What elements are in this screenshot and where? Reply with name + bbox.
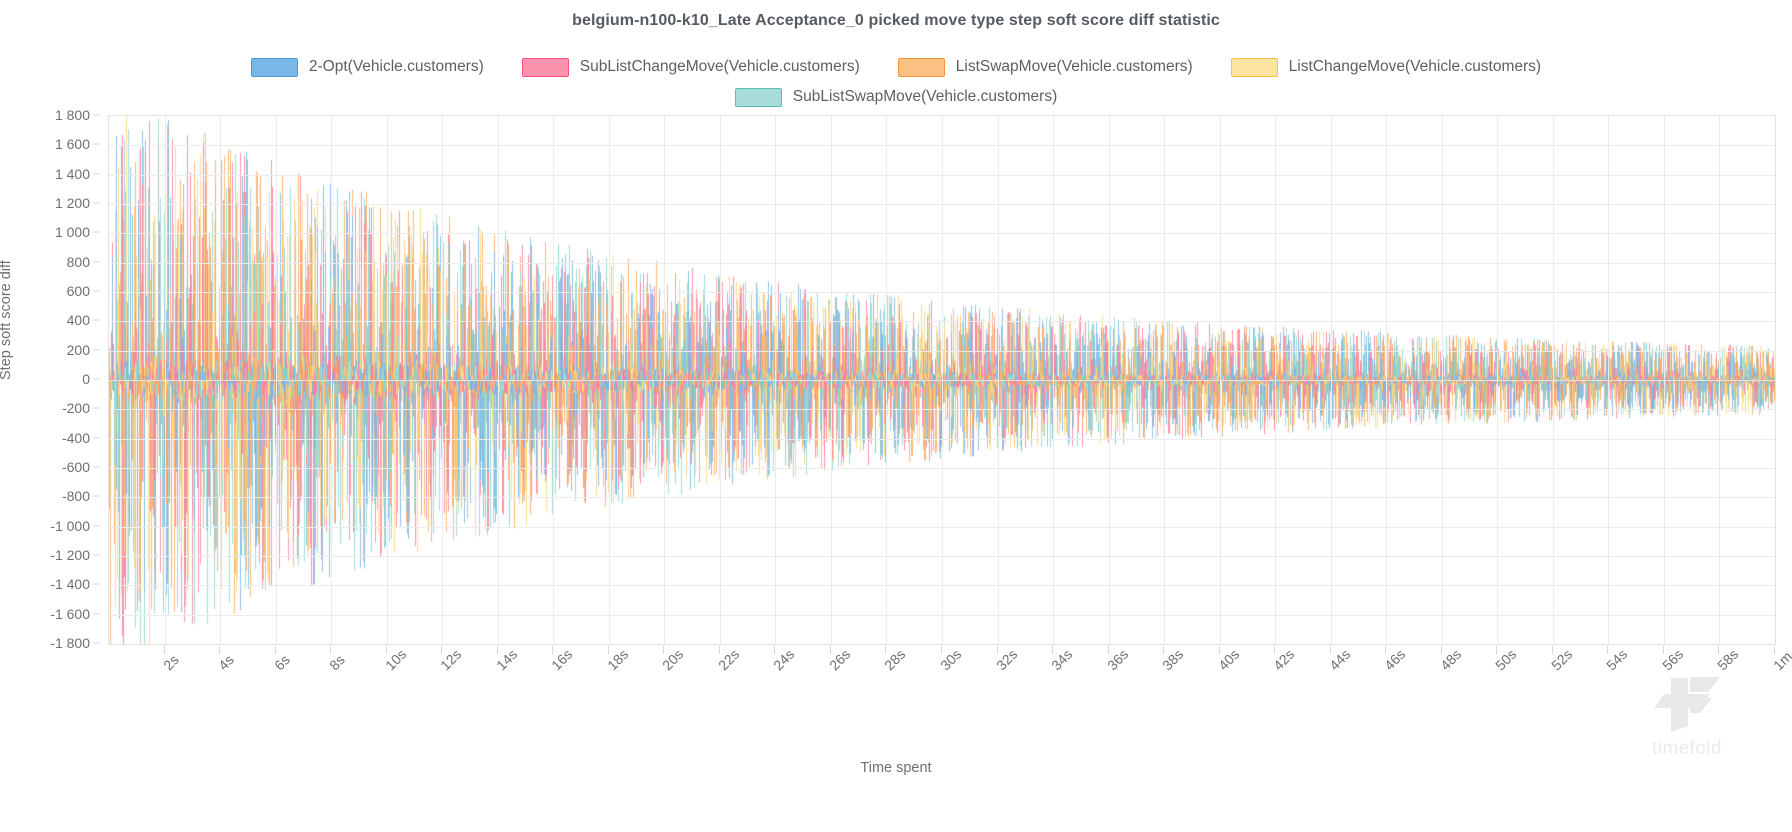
y-axis-tick-mark [93, 408, 100, 409]
y-axis-tick-label: -1 800 [50, 635, 90, 651]
x-axis-tick-mark [608, 646, 609, 654]
legend-label-sublistchangemove: SubListChangeMove(Vehicle.customers) [580, 58, 860, 76]
x-axis-tick-mark [386, 646, 387, 654]
vertical-gridline [1164, 116, 1165, 644]
y-axis-tick-label: -800 [62, 488, 90, 504]
y-axis-tick-mark [93, 115, 100, 116]
x-axis-tick-mark [941, 646, 942, 654]
legend-swatch-listchangemove [1231, 58, 1278, 77]
y-axis-tick-label: -1 600 [50, 606, 90, 622]
vertical-gridline [1719, 116, 1720, 644]
x-axis-title: Time spent [0, 760, 1792, 776]
vertical-gridline [498, 116, 499, 644]
vertical-gridline [387, 116, 388, 644]
y-axis-tick-label: 0 [82, 371, 90, 387]
legend-swatch-2-opt [251, 58, 298, 77]
chart-container: belgium-n100-k10_Late Acceptance_0 picke… [0, 0, 1792, 832]
y-axis-tick-mark [93, 320, 100, 321]
vertical-gridline [1109, 116, 1110, 644]
y-axis-tick-label: -1 400 [50, 576, 90, 592]
y-axis-tick-mark [93, 525, 100, 526]
vertical-gridline [1497, 116, 1498, 644]
legend-swatch-listswapmove [898, 58, 945, 77]
y-axis-tick-mark [93, 584, 100, 585]
y-axis-tick-mark [93, 144, 100, 145]
vertical-gridline [276, 116, 277, 644]
legend-row-2: SubListSwapMove(Vehicle.customers) [0, 82, 1792, 112]
vertical-gridline [1331, 116, 1332, 644]
x-axis-tick-mark [552, 646, 553, 654]
y-axis-tick-label: 1 200 [55, 195, 90, 211]
x-axis-tick-mark [219, 646, 220, 654]
x-axis-tick-mark [1163, 646, 1164, 654]
y-axis-tick-mark [93, 555, 100, 556]
x-axis-tick-mark [1385, 646, 1386, 654]
plot-area [108, 115, 1776, 645]
x-axis-tick-label: 4s [215, 652, 237, 674]
y-axis-tick-label: -1 000 [50, 518, 90, 534]
x-axis-tick-mark [1774, 646, 1775, 654]
y-axis-tick-mark [93, 643, 100, 644]
y-axis-tick-mark [93, 291, 100, 292]
y-axis-tick-mark [93, 379, 100, 380]
legend-item-listswapmove[interactable]: ListSwapMove(Vehicle.customers) [898, 58, 1193, 77]
x-axis-tick-mark [164, 646, 165, 654]
x-axis-tick-mark [441, 646, 442, 654]
y-axis-tick-label: 1 400 [55, 166, 90, 182]
y-axis-tick-label: 800 [67, 254, 90, 270]
legend-item-sublistchangemove[interactable]: SubListChangeMove(Vehicle.customers) [522, 58, 860, 77]
x-axis-tick-mark [885, 646, 886, 654]
y-axis-tick-mark [93, 203, 100, 204]
vertical-gridline [720, 116, 721, 644]
y-axis-tick-mark [93, 467, 100, 468]
vertical-gridline [831, 116, 832, 644]
vertical-gridline [1275, 116, 1276, 644]
x-axis-tick-mark [1441, 646, 1442, 654]
y-axis-tick-mark [93, 261, 100, 262]
y-axis-tick-label: 400 [67, 312, 90, 328]
x-axis-tick-mark [663, 646, 664, 654]
x-axis-tick-mark [1219, 646, 1220, 654]
vertical-gridline [220, 116, 221, 644]
vertical-gridline [1053, 116, 1054, 644]
y-axis-tick-mark [93, 496, 100, 497]
x-axis-tick-mark [1607, 646, 1608, 654]
x-axis-tick-mark [1496, 646, 1497, 654]
x-axis: 2s4s6s8s10s12s14s16s18s20s22s24s26s28s30… [108, 646, 1776, 716]
x-axis-tick-label: 8s [326, 652, 348, 674]
x-axis-tick-mark [830, 646, 831, 654]
y-axis-tick-mark [93, 349, 100, 350]
vertical-gridline [1220, 116, 1221, 644]
y-axis-tick-mark [93, 437, 100, 438]
legend-label-listchangemove: ListChangeMove(Vehicle.customers) [1289, 58, 1541, 76]
y-axis-tick-label: 1 800 [55, 107, 90, 123]
vertical-gridline [942, 116, 943, 644]
vertical-gridline [1775, 116, 1776, 644]
legend-item-sublistswapmove[interactable]: SubListSwapMove(Vehicle.customers) [735, 88, 1057, 107]
y-axis-tick-label: 1 000 [55, 224, 90, 240]
vertical-gridline [553, 116, 554, 644]
vertical-gridline [165, 116, 166, 644]
legend-label-sublistswapmove: SubListSwapMove(Vehicle.customers) [793, 88, 1057, 106]
vertical-gridline [1442, 116, 1443, 644]
y-axis-tick-mark [93, 173, 100, 174]
y-axis-tick-mark [93, 613, 100, 614]
vertical-gridline [609, 116, 610, 644]
legend-label-2-opt: 2-Opt(Vehicle.customers) [309, 58, 484, 76]
y-axis-tick-label: 600 [67, 283, 90, 299]
chart-legend: 2-Opt(Vehicle.customers) SubListChangeMo… [0, 52, 1792, 112]
legend-item-2-opt[interactable]: 2-Opt(Vehicle.customers) [251, 58, 484, 77]
vertical-gridline [886, 116, 887, 644]
y-axis-tick-label: -400 [62, 430, 90, 446]
vertical-gridline [664, 116, 665, 644]
vertical-gridline [331, 116, 332, 644]
legend-swatch-sublistswapmove [735, 88, 782, 107]
x-axis-tick-mark [1663, 646, 1664, 654]
y-axis-tick-label: -1 200 [50, 547, 90, 563]
legend-row-1: 2-Opt(Vehicle.customers) SubListChangeMo… [0, 52, 1792, 82]
y-axis-tick-label: -200 [62, 400, 90, 416]
vertical-gridline [1664, 116, 1665, 644]
x-axis-tick-mark [1552, 646, 1553, 654]
y-axis-tick-label: 200 [67, 342, 90, 358]
vertical-gridline [1608, 116, 1609, 644]
vertical-gridline [1386, 116, 1387, 644]
x-axis-tick-mark [1052, 646, 1053, 654]
y-axis-tick-label: -600 [62, 459, 90, 475]
x-axis-tick-mark [1330, 646, 1331, 654]
x-axis-tick-mark [497, 646, 498, 654]
y-axis-tick-label: 1 600 [55, 136, 90, 152]
x-axis-tick-mark [774, 646, 775, 654]
vertical-gridline [1553, 116, 1554, 644]
x-axis-tick-label: 6s [271, 652, 293, 674]
x-axis-tick-mark [330, 646, 331, 654]
vertical-gridline [775, 116, 776, 644]
x-axis-tick-mark [1108, 646, 1109, 654]
y-axis-title: Step soft score diff [0, 260, 14, 380]
x-axis-tick-mark [1274, 646, 1275, 654]
watermark-text: timefold [1628, 738, 1746, 760]
x-axis-tick-mark [1718, 646, 1719, 654]
y-axis: 1 8001 6001 4001 2001 0008006004002000-2… [0, 115, 100, 645]
x-axis-tick-label: 2s [160, 652, 182, 674]
legend-item-listchangemove[interactable]: ListChangeMove(Vehicle.customers) [1231, 58, 1541, 77]
x-axis-tick-mark [997, 646, 998, 654]
x-axis-tick-mark [275, 646, 276, 654]
y-axis-tick-mark [93, 232, 100, 233]
legend-swatch-sublistchangemove [522, 58, 569, 77]
legend-label-listswapmove: ListSwapMove(Vehicle.customers) [956, 58, 1193, 76]
vertical-gridline [442, 116, 443, 644]
chart-title: belgium-n100-k10_Late Acceptance_0 picke… [0, 12, 1792, 30]
vertical-gridline [998, 116, 999, 644]
x-axis-tick-mark [719, 646, 720, 654]
